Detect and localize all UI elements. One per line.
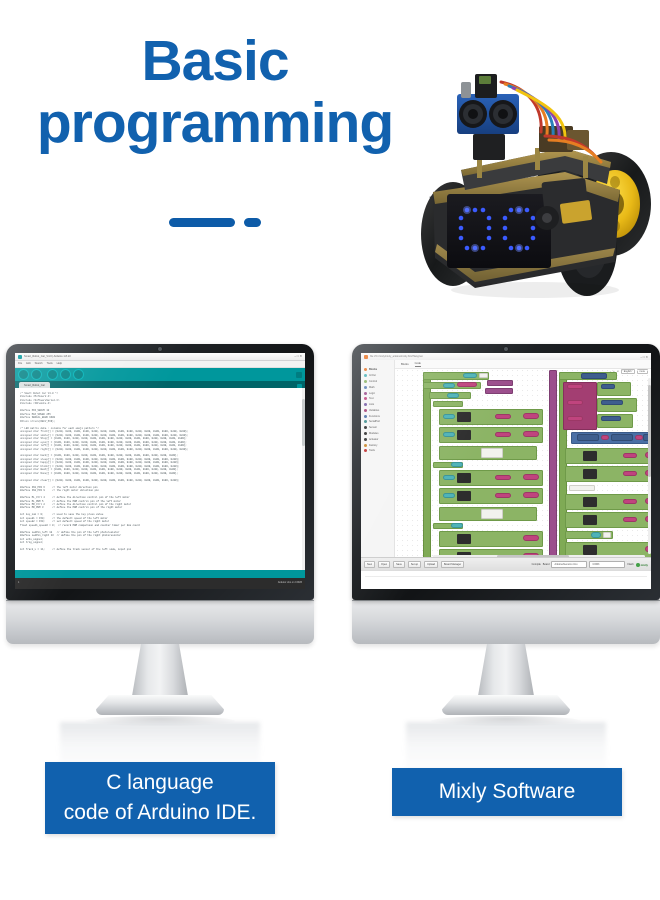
block-value-r1 <box>591 532 601 538</box>
block-pill-r4 <box>601 435 609 440</box>
block-motor-r-4 <box>565 512 651 528</box>
logic-icon <box>364 392 367 395</box>
block-field-a <box>479 373 488 378</box>
title-divider <box>0 218 430 227</box>
arduino-icon <box>18 355 22 359</box>
motor-icon-r1 <box>583 451 597 461</box>
ide-toolbar <box>15 368 305 381</box>
block-pill-h <box>495 493 511 498</box>
webcam-icon <box>504 347 508 351</box>
block-value-a <box>463 373 477 378</box>
stand-neck <box>478 644 534 696</box>
new-sketch-button[interactable] <box>47 369 58 380</box>
board-manager-button[interactable]: Board Manager <box>441 561 464 567</box>
menu-edit[interactable]: Edit <box>26 362 30 366</box>
monitor-mixly: file:///C:/mixly/mixly_arduino/mixly.htm… <box>352 344 660 780</box>
caption-arduino-ide: C language code of Arduino IDE. <box>45 762 275 834</box>
block-pill-j <box>523 535 539 541</box>
block-pill-b <box>495 414 511 419</box>
block-pill-r2 <box>567 400 583 405</box>
mixly-bottom-toolbar: New Open Save Set up Upload Board Manage… <box>361 557 651 571</box>
canvas-scrollbar-vertical[interactable] <box>648 378 650 554</box>
block-pill-r1 <box>567 384 583 389</box>
motor-icon-r4 <box>583 515 597 525</box>
ide-status-right: Arduino Uno on COM3 <box>278 581 302 584</box>
block-motor-r-3 <box>565 494 651 510</box>
block-navy-c <box>601 400 623 405</box>
serial-monitor-icon[interactable] <box>296 372 302 378</box>
mixly-logo: mixly <box>636 563 648 567</box>
block-if <box>433 401 463 407</box>
block-pill-i <box>523 492 539 498</box>
monitor-screen: file:///C:/mixly/mixly_arduino/mixly.htm… <box>361 353 651 589</box>
block-value-b <box>443 383 455 388</box>
serialport-icon <box>364 420 367 423</box>
motor-icon-4 <box>457 491 471 501</box>
led-matrix-display <box>447 194 551 268</box>
block-value-d <box>443 414 455 419</box>
block-navy-a <box>581 373 607 379</box>
block-value-i <box>451 523 463 528</box>
math-icon <box>364 386 367 389</box>
mixly-category-sidebar[interactable]: Blocks In/Out Control <box>361 360 395 558</box>
motor-icon-1 <box>457 412 471 422</box>
new-button[interactable]: New <box>364 561 375 567</box>
block-value-c <box>447 393 459 398</box>
save-button[interactable]: Save <box>393 561 405 567</box>
lists-icon <box>364 403 367 406</box>
block-pill-a <box>457 382 477 387</box>
title-line-2: programming <box>0 96 430 152</box>
sensor-icon <box>364 426 367 429</box>
block-pill-r3 <box>567 416 583 421</box>
block-pill-f <box>495 475 511 480</box>
functions-icon <box>364 415 367 418</box>
block-pill-c <box>523 413 539 419</box>
compile-label[interactable]: Compile <box>532 563 541 566</box>
arduino-robot-car-image <box>415 52 655 300</box>
block-navy-e <box>577 434 599 441</box>
caption-line-1: C language <box>106 768 213 798</box>
modules-icon <box>364 432 367 435</box>
port-select[interactable]: COM3 <box>589 561 625 567</box>
caption-line-2: code of Arduino IDE. <box>64 798 257 828</box>
actuator-icon <box>364 438 367 441</box>
variables-icon <box>364 409 367 412</box>
menu-file[interactable]: File <box>18 362 22 366</box>
block-navy-b <box>601 384 615 389</box>
tools-icon <box>364 449 367 452</box>
motor-icon-r5 <box>583 545 597 555</box>
monitor-arduino-ide: Smart_Robot_Car_V4.0 | Arduino 1.8.13 – … <box>6 344 314 780</box>
text-icon <box>364 397 367 400</box>
ide-titlebar: Smart_Robot_Car_V4.0 | Arduino 1.8.13 – … <box>15 353 305 361</box>
tab-code[interactable]: Code <box>415 362 421 367</box>
block-value-g <box>443 475 455 480</box>
block-purple-a <box>487 380 513 386</box>
monitor-bezel: Smart_Robot_Car_V4.0 | Arduino 1.8.13 – … <box>6 344 314 600</box>
window-controls[interactable]: – □ ✕ <box>294 354 302 358</box>
block-field-r1 <box>569 485 595 491</box>
flash-label[interactable]: Flash <box>627 563 633 566</box>
block-pill-e <box>523 431 539 437</box>
block-magenta-group <box>563 382 597 430</box>
mixly-canvas-area: Blocks Code − + ⊙ English more <box>395 360 651 558</box>
mixly-window-title: file:///C:/mixly/mixly_arduino/mixly.htm… <box>370 355 423 358</box>
stand-base <box>96 695 224 715</box>
menu-tools[interactable]: Tools <box>47 362 53 366</box>
arduino-ide-window: Smart_Robot_Car_V4.0 | Arduino 1.8.13 – … <box>15 353 305 589</box>
block-motor-r-1 <box>565 448 651 464</box>
ide-menubar[interactable]: File Edit Sketch Tools Help <box>15 361 305 368</box>
block-pill-r12 <box>623 517 637 522</box>
blocks-icon <box>364 368 367 371</box>
mixly-console <box>361 570 651 589</box>
monitor-stand <box>6 644 314 780</box>
divider-bar <box>169 218 235 227</box>
divider-dash <box>244 218 261 227</box>
block-purple-b <box>485 388 513 394</box>
control-icon <box>364 380 367 383</box>
upload-button[interactable]: Upload <box>424 561 438 567</box>
infographic-page: Basic programming <box>0 0 660 900</box>
verify-button[interactable] <box>18 369 29 380</box>
stand-base <box>442 695 570 715</box>
monitor-chin <box>352 600 660 644</box>
monitor-bezel: file:///C:/mixly/mixly_arduino/mixly.htm… <box>352 344 660 600</box>
ide-console: 1 Arduino Uno on COM3 <box>15 578 305 589</box>
mixly-logo-icon <box>636 563 640 567</box>
block-value-f <box>451 462 463 467</box>
monitor-stand <box>352 644 660 780</box>
block-motor-r-2 <box>565 466 651 482</box>
menu-help[interactable]: Help <box>57 362 62 366</box>
sidebar-item-tools[interactable]: Tools <box>361 448 394 454</box>
upload-button[interactable] <box>31 369 42 380</box>
factory-icon <box>364 444 367 447</box>
block-pill-r5 <box>635 435 643 440</box>
motor-icon-r3 <box>583 497 597 507</box>
motor-icon-3 <box>457 473 471 483</box>
caption-line-1: Mixly Software <box>439 777 576 807</box>
motor-icon-5 <box>457 534 471 544</box>
ide-status-left: 1 <box>18 581 19 584</box>
mixly-window: file:///C:/mixly/mixly_arduino/mixly.htm… <box>361 353 651 589</box>
block-pill-g <box>523 474 539 480</box>
block-pill-d <box>495 432 511 437</box>
open-button[interactable]: Open <box>378 561 390 567</box>
ide-window-title: Smart_Robot_Car_V4.0 | Arduino 1.8.13 <box>24 355 71 359</box>
inout-icon <box>364 374 367 377</box>
board-select[interactable]: Arduino/Genuino Uno <box>551 561 587 567</box>
monitor-screen: Smart_Robot_Car_V4.0 | Arduino 1.8.13 – … <box>15 353 305 589</box>
mixly-bottom-right: Compile Board Arduino/Genuino Uno COM3 F… <box>532 561 648 567</box>
tab-blocks[interactable]: Blocks <box>401 363 409 366</box>
save-sketch-button[interactable] <box>73 369 84 380</box>
open-sketch-button[interactable] <box>60 369 71 380</box>
ide-status-line <box>15 570 305 578</box>
block-navy-d <box>601 416 621 421</box>
blockly-canvas[interactable] <box>395 368 651 558</box>
mixly-icon <box>364 355 368 359</box>
ide-code-editor[interactable]: /* Smart Robot Car V4.0 */ #include <MsT… <box>15 388 305 570</box>
setup-button[interactable]: Set up <box>408 561 421 567</box>
block-field-c <box>481 509 503 519</box>
mixly-body: Blocks In/Out Control <box>361 360 651 558</box>
stand-neck <box>132 644 188 696</box>
block-value-e <box>443 432 455 437</box>
webcam-icon <box>158 347 162 351</box>
block-group-left <box>423 372 431 558</box>
block-field-b <box>481 448 503 458</box>
block-group-right-spine <box>549 370 557 558</box>
title-line-1: Basic <box>0 34 430 90</box>
window-controls[interactable]: – □ ✕ <box>640 355 648 359</box>
code-scrollbar[interactable] <box>302 388 305 570</box>
block-pill-r6 <box>623 453 637 458</box>
motor-icon-r2 <box>583 469 597 479</box>
monitor-chin <box>6 600 314 644</box>
board-label: Board <box>543 563 550 566</box>
motor-icon-2 <box>457 430 471 440</box>
block-value-h <box>443 493 455 498</box>
block-pill-r8 <box>623 471 637 476</box>
caption-mixly: Mixly Software <box>392 768 622 816</box>
block-pill-r10 <box>623 499 637 504</box>
block-navy-f <box>611 434 633 441</box>
page-title: Basic programming <box>0 34 430 152</box>
block-field-r2 <box>603 532 611 538</box>
menu-sketch[interactable]: Sketch <box>35 362 43 366</box>
